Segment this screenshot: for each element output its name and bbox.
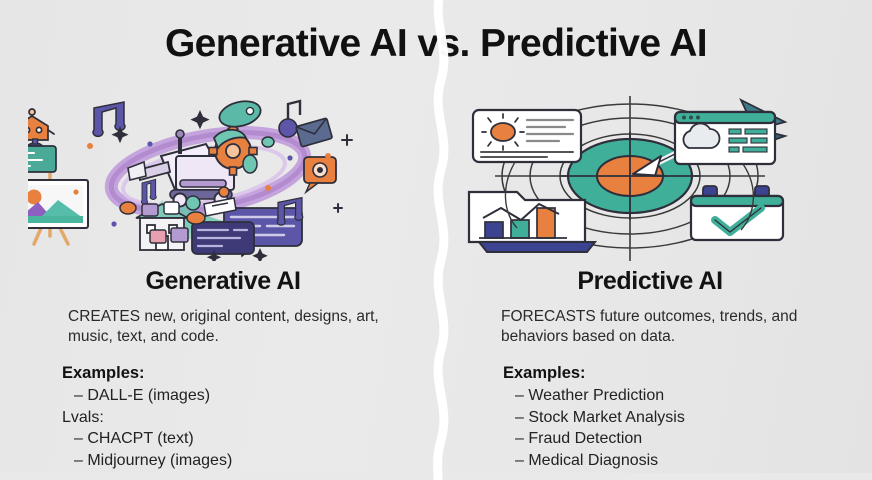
creative-generation-illustration <box>28 96 418 261</box>
target-forecasting-illustration <box>455 96 845 261</box>
examples-label-generative: Examples: <box>28 364 418 383</box>
list-item: – Fraud Detection <box>455 428 845 450</box>
page-title: Generative AI vs. Predictive AI <box>0 22 872 66</box>
list-item: – Midjourney (images) <box>28 450 418 472</box>
slide-canvas: Generative AI vs. Predictive AI <box>0 0 872 473</box>
list-item: Lvals: <box>28 407 418 429</box>
examples-list-generative: – DALL-E (images) Lvals: – CHACPT (text)… <box>28 385 418 471</box>
column-heading-generative: Generative AI <box>28 267 418 296</box>
examples-label-predictive: Examples: <box>455 364 845 383</box>
column-description-predictive: FORECASTS future outcomes, trends, and b… <box>455 307 845 347</box>
list-item: – Medical Diagnosis <box>455 450 845 472</box>
examples-list-predictive: – Weather Prediction – Stock Market Anal… <box>455 385 845 471</box>
list-item: – DALL-E (images) <box>28 385 418 407</box>
column-predictive-ai: Predictive AI FORECASTS future outcomes,… <box>455 96 845 466</box>
column-description-generative: CREATES new, original content, designs, … <box>28 307 418 347</box>
column-generative-ai: Generative AI CREATES new, original cont… <box>28 96 418 466</box>
list-item: – Weather Prediction <box>455 385 845 407</box>
list-item: – CHACPT (text) <box>28 428 418 450</box>
list-item: – Stock Market Analysis <box>455 407 845 429</box>
column-heading-predictive: Predictive AI <box>455 267 845 296</box>
